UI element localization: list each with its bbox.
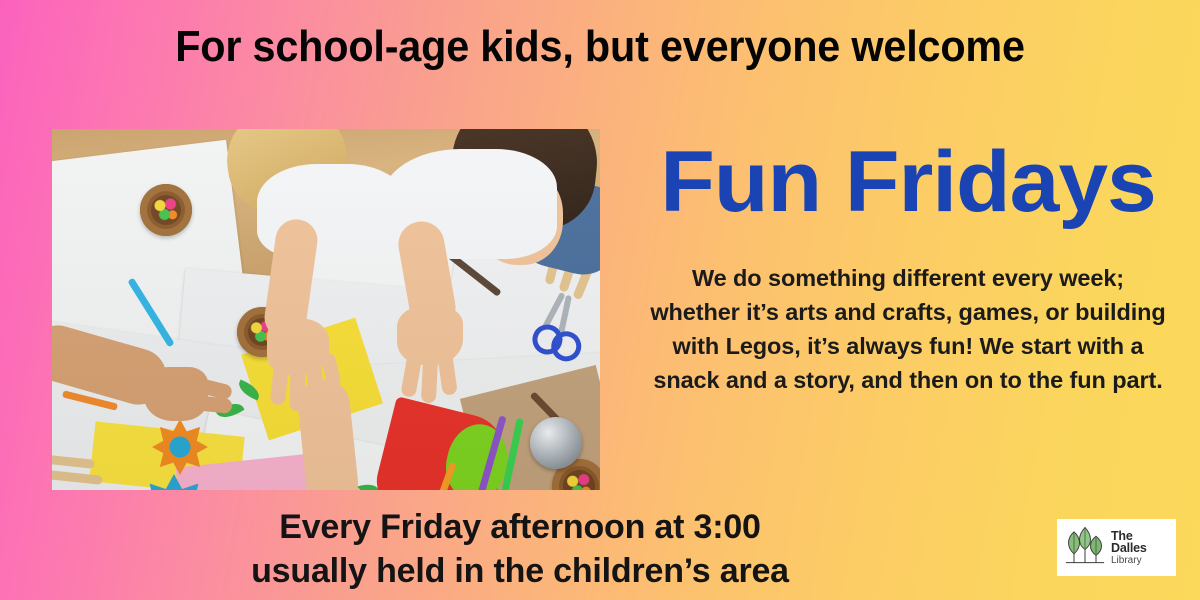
schedule-line-1: Every Friday afternoon at 3:00 bbox=[0, 505, 1040, 549]
glitter-jar bbox=[530, 417, 582, 469]
schedule-line-2: usually held in the children’s area bbox=[0, 549, 1040, 593]
library-logo-text: The Dalles Library bbox=[1111, 530, 1170, 566]
crafts-photo bbox=[52, 129, 600, 490]
page-title: For school-age kids, but everyone welcom… bbox=[36, 22, 1164, 72]
flyer-poster: For school-age kids, but everyone welcom… bbox=[0, 0, 1200, 600]
child-hand bbox=[144, 367, 208, 421]
paper-flower bbox=[152, 419, 208, 475]
library-subtitle: Library bbox=[1111, 556, 1170, 566]
library-name: The Dalles bbox=[1111, 530, 1170, 555]
event-schedule: Every Friday afternoon at 3:00 usually h… bbox=[0, 505, 1040, 593]
event-title: Fun Fridays bbox=[617, 136, 1199, 228]
child-finger bbox=[421, 357, 438, 404]
three-trees-icon bbox=[1063, 527, 1107, 569]
library-logo: The Dalles Library bbox=[1057, 519, 1176, 576]
crafts-photo-scene bbox=[52, 129, 600, 490]
bead-bowl bbox=[140, 184, 192, 236]
event-description: We do something different every week; wh… bbox=[648, 261, 1168, 397]
